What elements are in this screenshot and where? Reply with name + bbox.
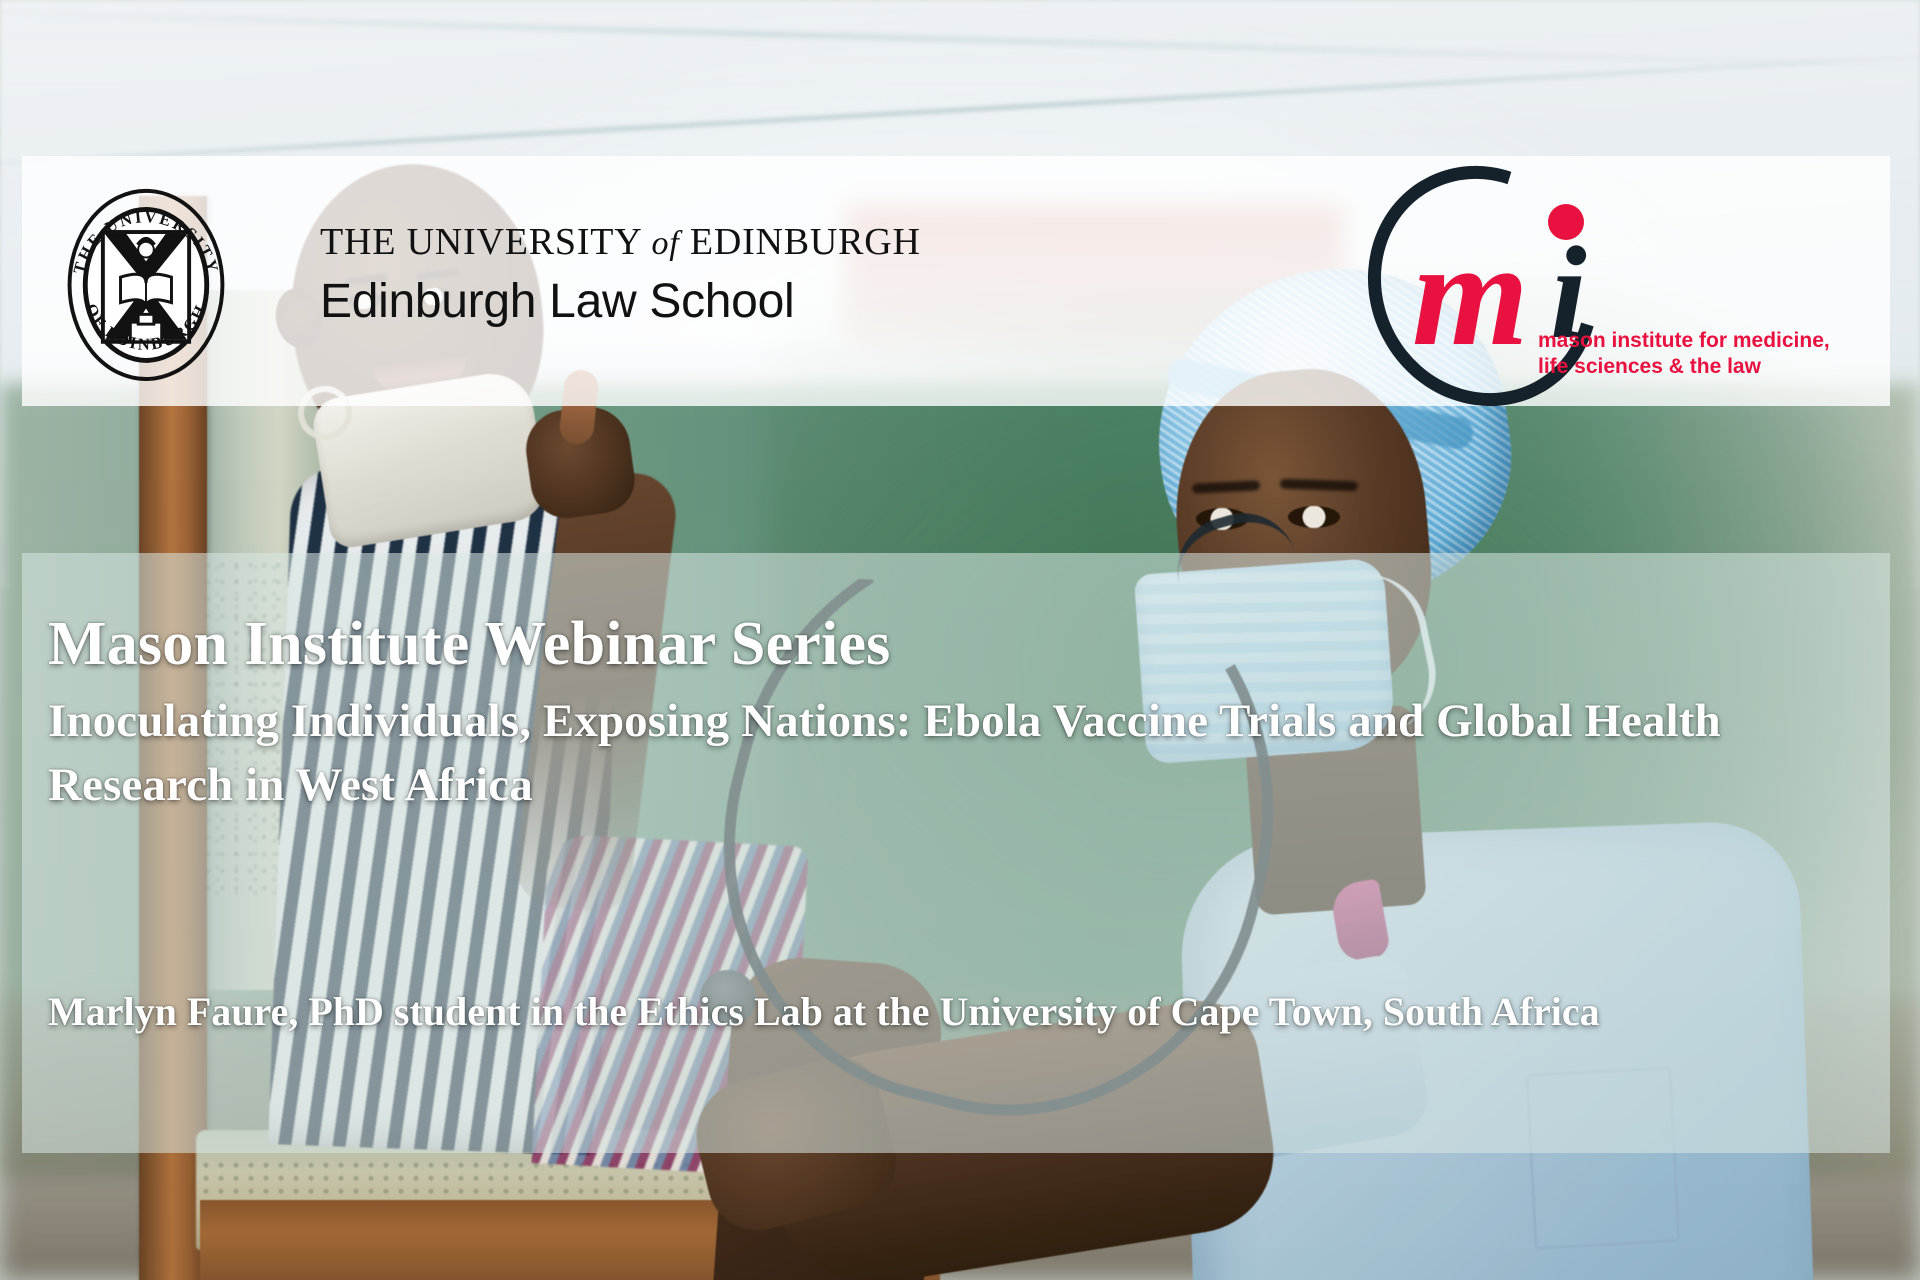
mason-tagline-line1: mason institute for medicine, [1538,328,1838,354]
law-school-name: Edinburgh Law School [320,274,960,329]
university-name: THE UNIVERSITY of EDINBURGH [320,220,960,264]
mason-institute-logo: m i mason institute for medicine, life s… [1360,150,1820,390]
university-name-of: of [651,225,679,262]
webinar-poster-slide: · THE UNIVERSITY · OF EDINBURGH THE UNIV… [0,0,1920,1280]
talk-title: Inoculating Individuals, Exposing Nation… [48,690,1838,818]
series-title: Mason Institute Webinar Series [48,612,1868,676]
mason-tagline: mason institute for medicine, life scien… [1538,328,1838,379]
nurse-eye-right [1288,506,1340,528]
university-name-part1: THE UNIVERSITY [320,221,641,263]
university-crest-icon: · THE UNIVERSITY · OF EDINBURGH [48,158,244,406]
university-wordmark: THE UNIVERSITY of EDINBURGH Edinburgh La… [320,220,960,329]
speaker-credit: Marlyn Faure, PhD student in the Ethics … [48,980,1848,1045]
university-name-part2: EDINBURGH [690,221,921,263]
title-block: Mason Institute Webinar Series Inoculati… [48,612,1868,818]
mason-tagline-line2: life sciences & the law [1538,354,1838,380]
mason-letter-m: m [1412,236,1529,353]
